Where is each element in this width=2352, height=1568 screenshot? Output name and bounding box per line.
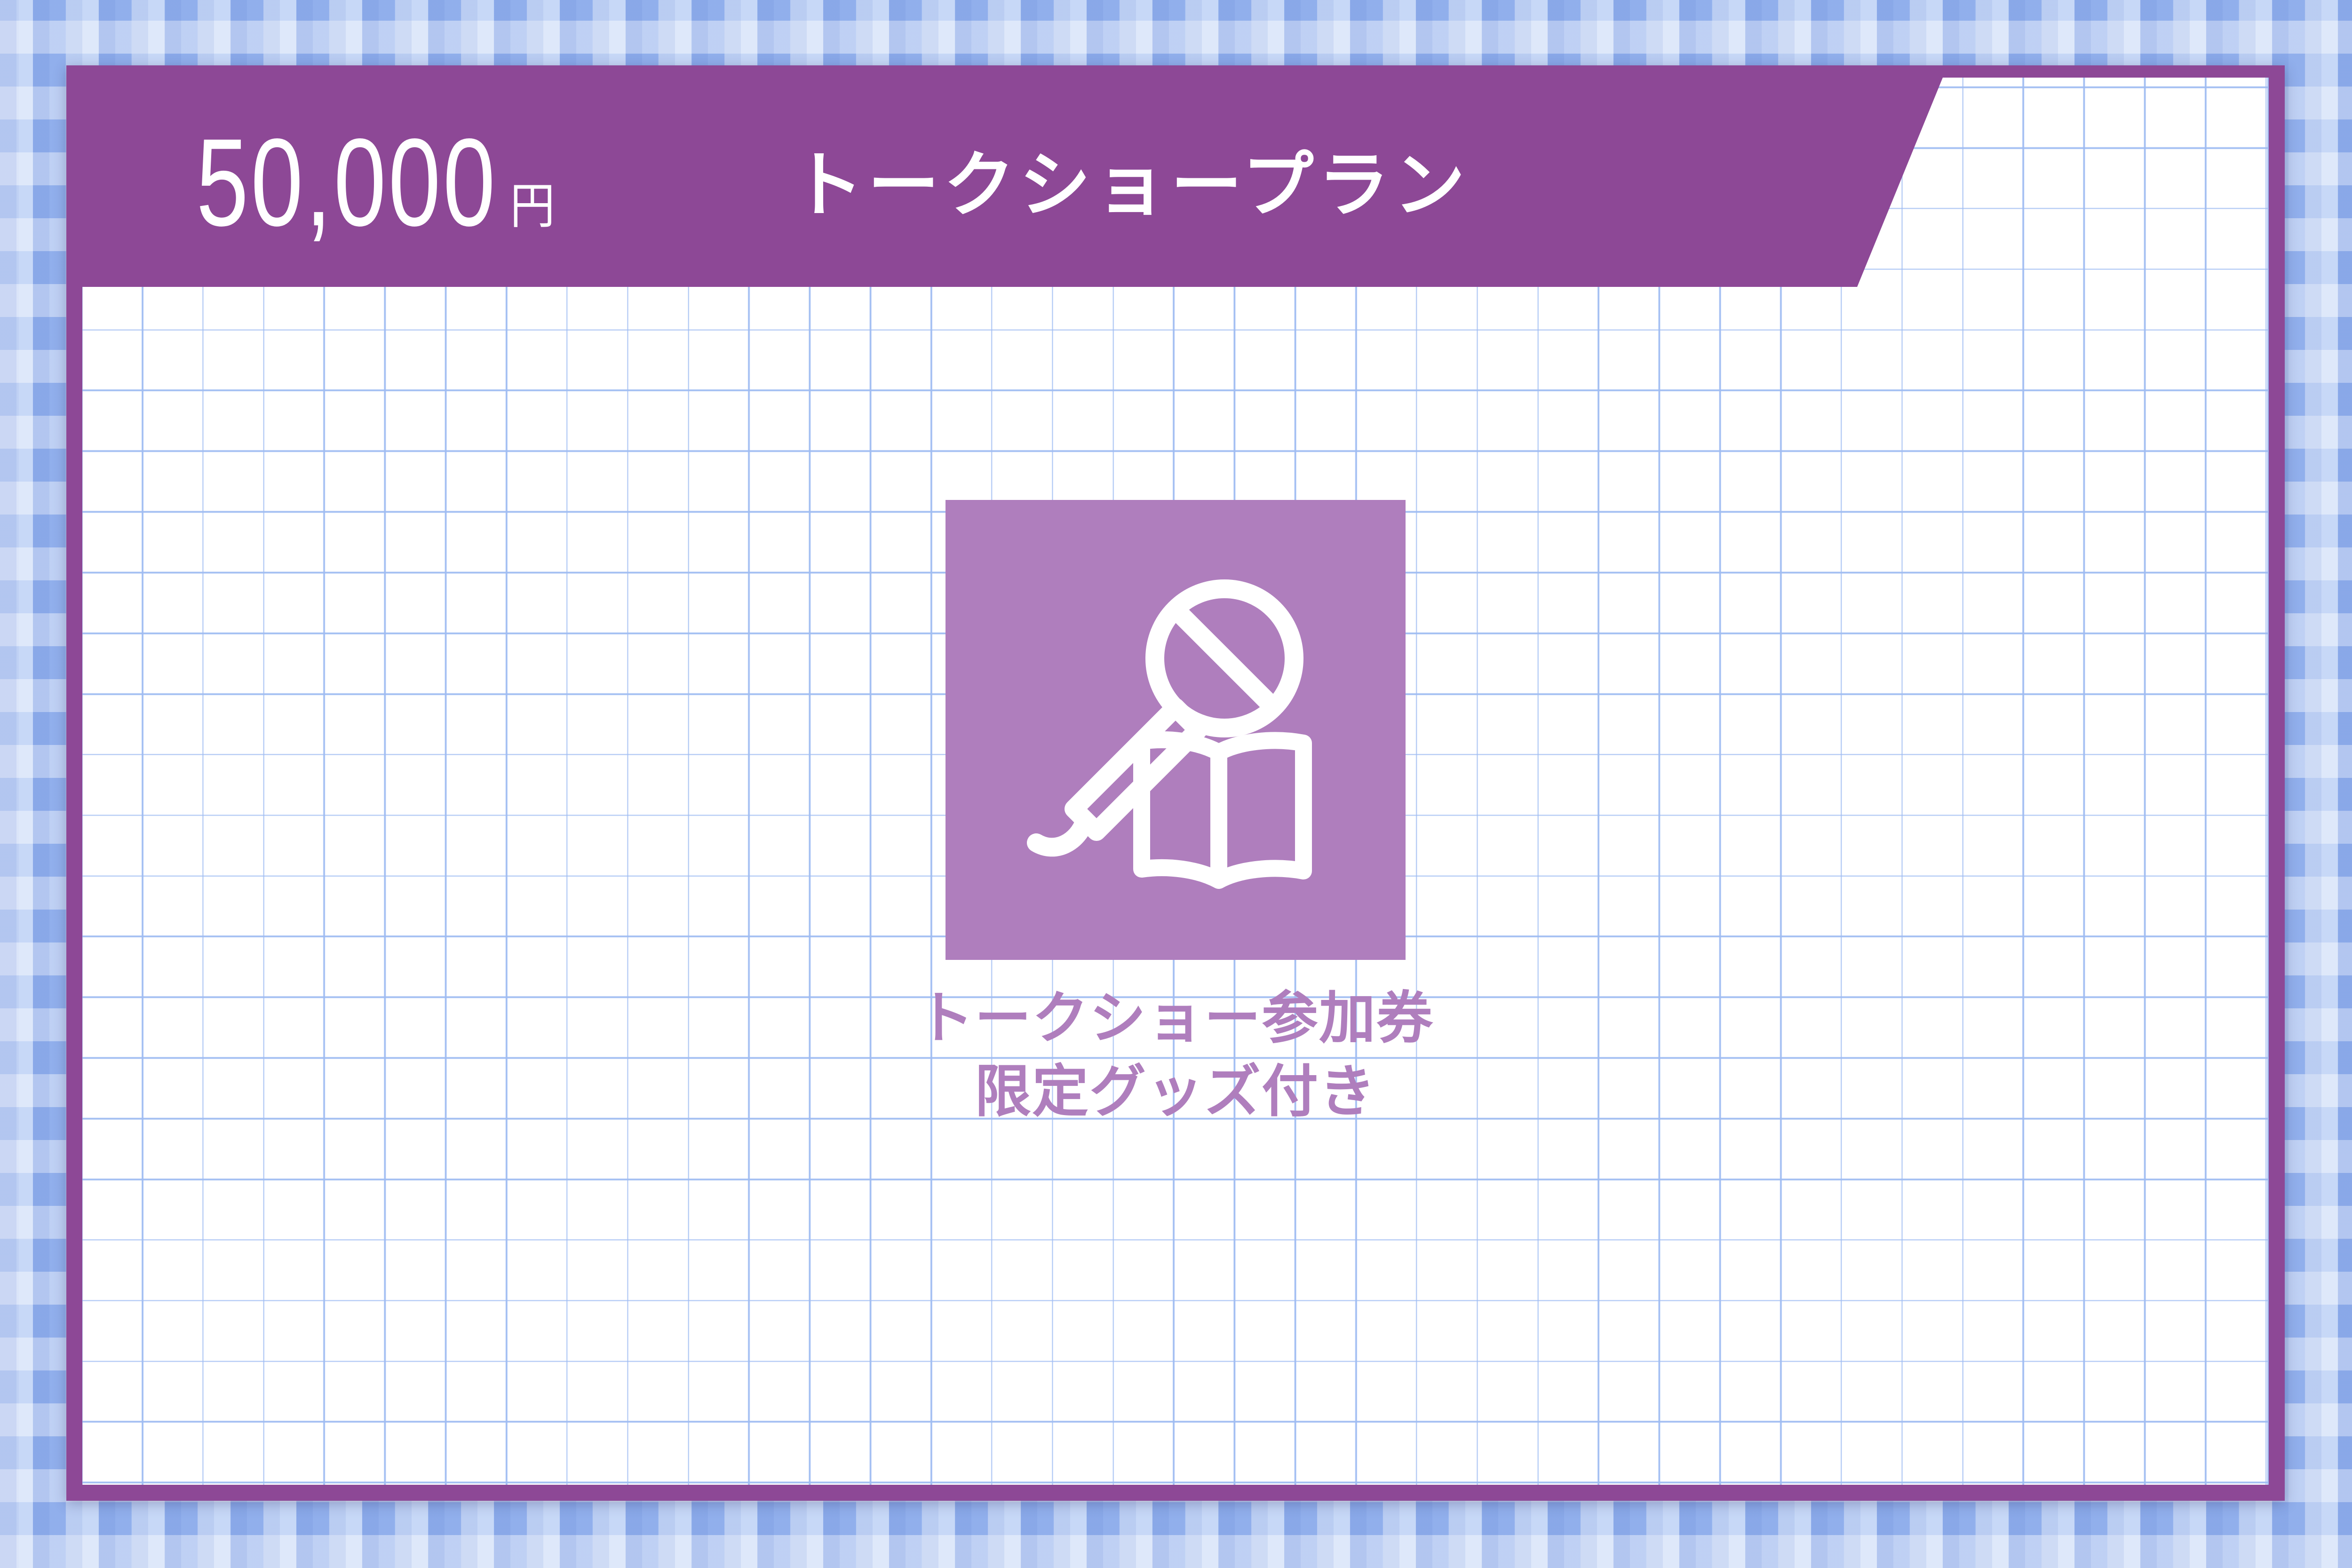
plan-header-banner: 50,000 円 トークショープラン — [82, 78, 1943, 287]
price-amount: 50,000 — [196, 120, 498, 245]
benefit-icon-box — [946, 500, 1406, 960]
price-currency-unit: 円 — [510, 182, 555, 231]
microphone-and-open-book-icon — [987, 542, 1364, 918]
price-block: 50,000 円 — [159, 124, 557, 241]
benefit-caption-line-2: 限定グッズ付き — [917, 1055, 1434, 1128]
gingham-background: 50,000 円 トークショープラン — [0, 0, 2352, 1568]
benefit-caption: トークショー参加券 限定グッズ付き — [917, 982, 1434, 1128]
graph-paper-sheet: 50,000 円 トークショープラン — [82, 78, 2269, 1485]
plan-card: 50,000 円 トークショープラン — [66, 65, 2285, 1501]
benefit-caption-line-1: トークショー参加券 — [917, 982, 1434, 1055]
plan-benefit-block: トークショー参加券 限定グッズ付き — [82, 111, 2269, 1485]
plan-title: トークショープラン — [792, 150, 1470, 221]
